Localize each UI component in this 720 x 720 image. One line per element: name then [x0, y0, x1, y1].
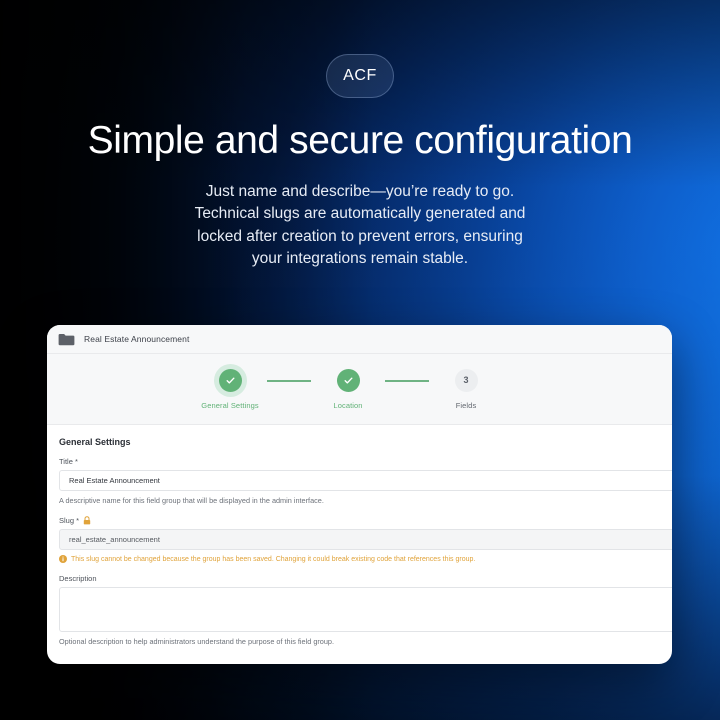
description-label-text: Description: [59, 574, 97, 583]
step-connector: [267, 380, 311, 382]
check-icon: [343, 375, 354, 386]
page-title: Simple and secure configuration: [0, 120, 720, 163]
slug-field-label: Slug *: [59, 516, 672, 525]
hero-subtitle-line: locked after creation to prevent errors,…: [150, 226, 570, 248]
title-helper-text: A descriptive name for this field group …: [59, 496, 672, 505]
step-label: Location: [333, 401, 362, 410]
title-input[interactable]: Real Estate Announcement: [59, 470, 672, 491]
step-label: Fields: [456, 401, 477, 410]
general-settings-form: General Settings Title * Real Estate Ann…: [47, 425, 672, 646]
step-location[interactable]: Location: [311, 369, 385, 410]
lock-icon: [83, 516, 91, 525]
hero-subtitle-line: your integrations remain stable.: [150, 248, 570, 270]
step-general-settings[interactable]: General Settings: [193, 369, 267, 410]
step-circle-complete: [337, 369, 360, 392]
description-field-label: Description: [59, 574, 672, 583]
description-textarea[interactable]: [59, 587, 672, 632]
check-icon: [225, 375, 236, 386]
description-helper-text: Optional description to help administrat…: [59, 637, 672, 646]
hero-subtitle-line: Technical slugs are automatically genera…: [150, 203, 570, 225]
step-fields[interactable]: 3 Fields: [429, 369, 503, 410]
progress-stepper: General Settings Location 3 Fields: [47, 354, 672, 425]
title-field-label: Title *: [59, 457, 672, 466]
hero-subtitle: Just name and describe—you’re ready to g…: [150, 181, 570, 271]
folder-icon: [58, 333, 75, 346]
step-circle-number: 3: [455, 369, 478, 392]
card-header-title: Real Estate Announcement: [84, 334, 189, 344]
info-circle-icon: [59, 555, 67, 563]
step-label: General Settings: [201, 401, 258, 410]
hero-subtitle-line: Just name and describe—you’re ready to g…: [150, 181, 570, 203]
slug-warning-text: This slug cannot be changed because the …: [71, 556, 475, 563]
hero-section: ACF Simple and secure configuration Just…: [0, 0, 720, 271]
acf-badge: ACF: [326, 54, 394, 98]
step-circle-complete: [219, 369, 242, 392]
section-title: General Settings: [59, 437, 672, 447]
slug-input: real_estate_announcement: [59, 529, 672, 550]
step-connector: [385, 380, 429, 382]
slug-label-text: Slug *: [59, 516, 79, 525]
title-label-text: Title *: [59, 457, 78, 466]
card-header: Real Estate Announcement: [47, 325, 672, 354]
slug-warning: This slug cannot be changed because the …: [59, 555, 672, 563]
app-window-card: Real Estate Announcement General Setting…: [47, 325, 672, 664]
